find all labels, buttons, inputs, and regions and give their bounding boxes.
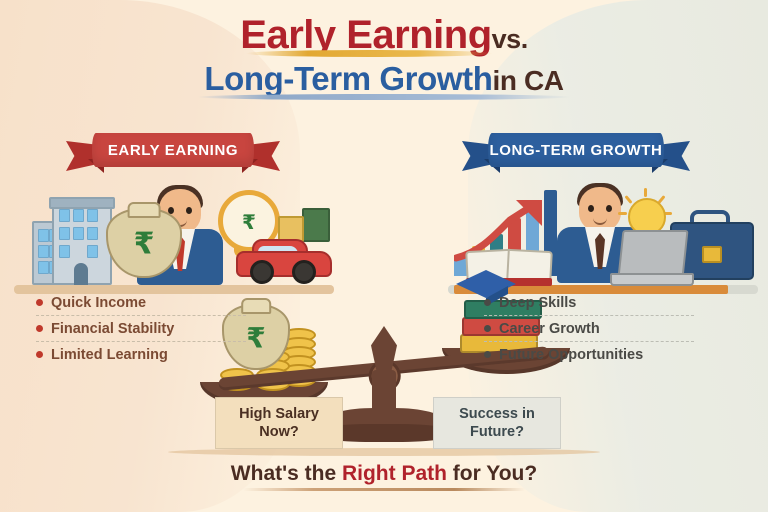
early-earning-illustration: ₹ ₹ — [14, 168, 334, 298]
footer-underline — [243, 488, 525, 491]
building-roof — [49, 197, 115, 209]
rupee-symbol: ₹ — [246, 322, 265, 355]
laptop-keyboard — [610, 273, 694, 286]
footer-highlight: Right Path — [342, 462, 447, 485]
bullet-label: Career Growth — [499, 321, 600, 337]
tag-high-salary-now[interactable]: High Salary Now? — [215, 397, 343, 449]
bullet-label: Deep Skills — [499, 295, 576, 311]
footer-prefix: What's the — [231, 462, 342, 485]
briefcase-latch — [702, 246, 722, 263]
green-box — [302, 208, 330, 242]
title-line-2: Long-Term Growthin CA — [204, 62, 563, 97]
bullet-dot-icon — [36, 325, 43, 332]
page-title: Early Earningvs. Long-Term Growthin CA — [0, 14, 768, 97]
title-long-term-growth: Long-Term Growth — [204, 60, 492, 97]
bullet-label: Limited Learning — [51, 347, 168, 363]
ribbon-tail-right — [250, 141, 280, 171]
red-car-icon — [236, 246, 328, 284]
office-building-icon — [32, 203, 112, 285]
ribbon-long-term-growth: LONG-TERM GROWTH — [462, 133, 690, 167]
title-gold-swoosh — [246, 50, 493, 57]
bullet-dot-icon — [36, 299, 43, 306]
list-item: Quick Income — [36, 290, 246, 316]
rupee-symbol: ₹ — [242, 210, 256, 234]
ribbon-tail-right — [660, 141, 690, 171]
bullet-label: Future Opportunities — [499, 347, 643, 363]
footer-question: What's the Right Path for You? — [0, 462, 768, 486]
bullet-label: Quick Income — [51, 295, 146, 311]
laptop-screen — [617, 230, 688, 278]
car-wheel — [250, 260, 274, 284]
bullet-dot-icon — [484, 325, 491, 332]
laptop-icon — [608, 236, 686, 286]
title-blue-swoosh — [197, 94, 571, 100]
title-in-ca: in CA — [493, 65, 564, 96]
rupee-symbol: ₹ — [134, 227, 155, 262]
tag-line-2: Future? — [438, 423, 556, 441]
ribbon-long-label: LONG-TERM GROWTH — [488, 133, 664, 167]
building-door — [74, 263, 88, 285]
infographic-canvas: Early Earningvs. Long-Term Growthin CA E… — [0, 0, 768, 512]
long-term-growth-bullet-list: Deep Skills Career Growth Future Opportu… — [484, 290, 694, 367]
footer-text: What's the Right Path for You? — [231, 462, 537, 486]
footer-suffix: for You? — [447, 462, 537, 485]
tag-line-2: Now? — [220, 423, 338, 441]
bullet-dot-icon — [484, 351, 491, 358]
title-vs: vs. — [492, 24, 528, 54]
bullet-label: Financial Stability — [51, 321, 174, 337]
list-item: Career Growth — [484, 316, 694, 342]
list-item: Deep Skills — [484, 290, 694, 316]
tag-line-1: Success in — [438, 405, 556, 423]
early-earning-bullet-list: Quick Income Financial Stability Limited… — [36, 290, 246, 367]
bullet-dot-icon — [484, 299, 491, 306]
ribbon-early-label: EARLY EARNING — [92, 133, 254, 167]
list-item: Financial Stability — [36, 316, 246, 342]
ribbon-early-earning: EARLY EARNING — [66, 133, 280, 167]
title-line-1: Early Earningvs. — [240, 14, 527, 56]
car-wheel — [292, 260, 316, 284]
list-item: Limited Learning — [36, 342, 246, 367]
list-item: Future Opportunities — [484, 342, 694, 367]
tag-success-in-future[interactable]: Success in Future? — [433, 397, 561, 449]
bag-neck — [128, 202, 161, 218]
bullet-dot-icon — [36, 351, 43, 358]
tag-line-1: High Salary — [220, 405, 338, 423]
face — [579, 187, 621, 231]
